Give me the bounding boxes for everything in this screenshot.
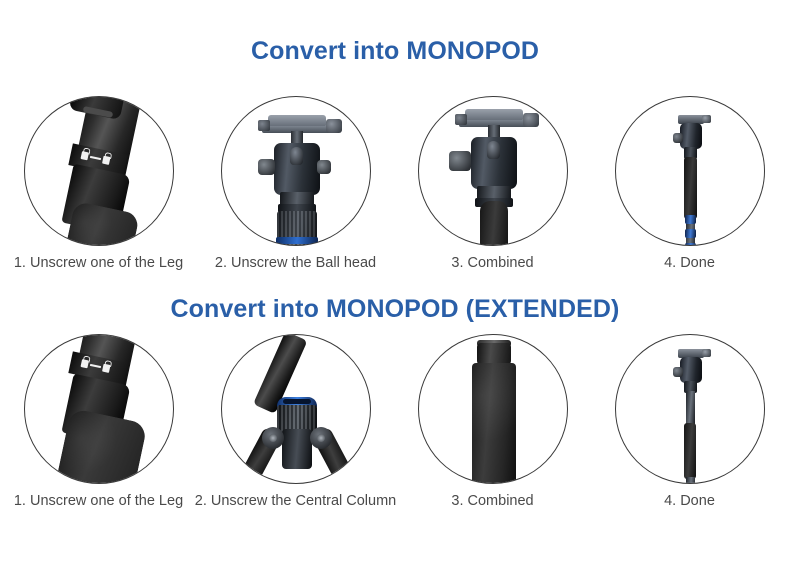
assembled-extended-monopod-photo xyxy=(616,335,765,484)
assembled-monopod-photo xyxy=(616,97,765,246)
step-card-2-3: 3. Combined xyxy=(394,334,591,509)
instruction-sheet: Convert into MONOPOD 1. Unscrew one of t… xyxy=(0,0,790,563)
step-card-2-4: 4. Done xyxy=(591,334,788,509)
foam-grip-photo xyxy=(419,335,568,484)
central-column-photo xyxy=(222,335,371,484)
photo-circle-foam-grip xyxy=(418,334,568,484)
photo-circle-leg-lock-2 xyxy=(24,334,174,484)
step-row-monopod: 1. Unscrew one of the Leg xyxy=(0,96,790,271)
step-caption: 2. Unscrew the Ball head xyxy=(215,255,376,271)
section-title-monopod: Convert into MONOPOD xyxy=(0,37,790,66)
ball-head-photo xyxy=(222,97,371,246)
photo-circle-leg-lock xyxy=(24,96,174,246)
step-row-monopod-extended: 1. Unscrew one of the Leg 2. Unscrew the… xyxy=(0,334,790,509)
tripod-leg-lock-photo xyxy=(25,97,174,246)
step-caption: 3. Combined xyxy=(451,493,533,509)
step-caption: 1. Unscrew one of the Leg xyxy=(14,255,183,271)
photo-circle-done-extended xyxy=(615,334,765,484)
step-caption: 4. Done xyxy=(664,493,715,509)
photo-circle-ball-head xyxy=(221,96,371,246)
section-title-monopod-extended: Convert into MONOPOD (EXTENDED) xyxy=(0,295,790,324)
step-card-1-2: 2. Unscrew the Ball head xyxy=(197,96,394,271)
tripod-leg-lock-photo xyxy=(25,335,174,484)
step-caption: 3. Combined xyxy=(451,255,533,271)
step-caption: 1. Unscrew one of the Leg xyxy=(14,493,183,509)
photo-circle-central-column xyxy=(221,334,371,484)
step-caption: 2. Unscrew the Central Column xyxy=(195,493,396,509)
step-card-1-1: 1. Unscrew one of the Leg xyxy=(0,96,197,271)
step-card-2-2: 2. Unscrew the Central Column xyxy=(197,334,394,509)
step-caption: 4. Done xyxy=(664,255,715,271)
step-card-1-3: 3. Combined xyxy=(394,96,591,271)
step-card-1-4: 4. Done xyxy=(591,96,788,271)
ball-head-on-foam-grip-photo xyxy=(419,97,568,246)
step-card-2-1: 1. Unscrew one of the Leg xyxy=(0,334,197,509)
photo-circle-combined xyxy=(418,96,568,246)
photo-circle-done xyxy=(615,96,765,246)
